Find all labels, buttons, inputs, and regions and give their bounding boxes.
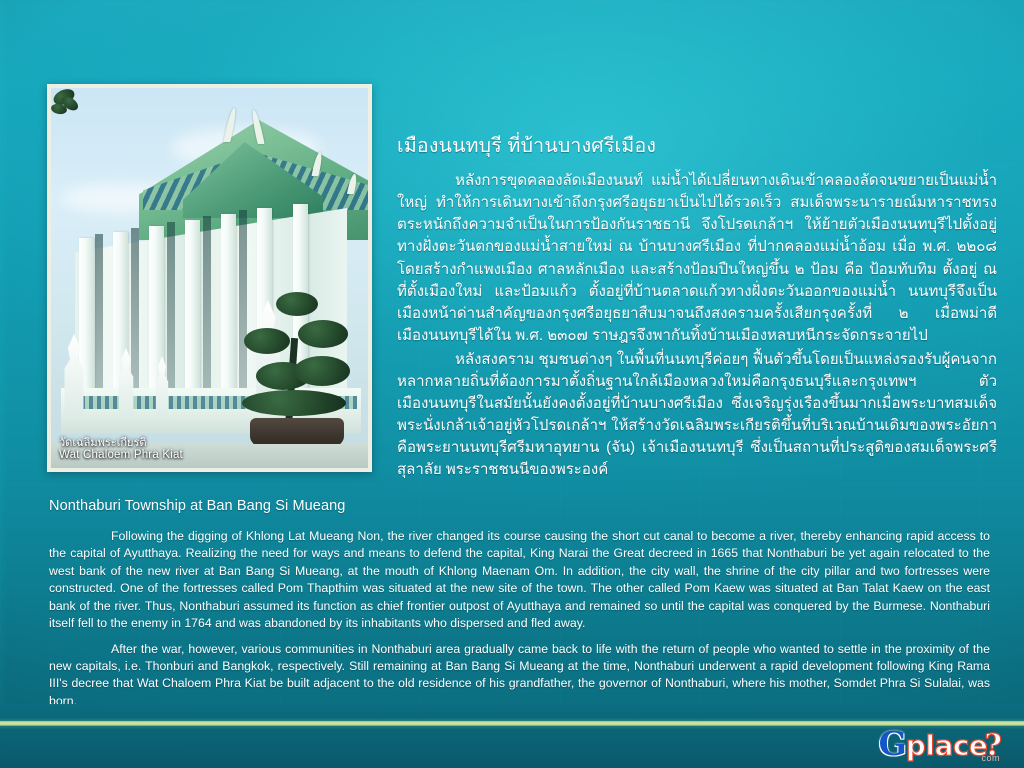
english-text-block: Nonthaburi Township at Ban Bang Si Muean… — [49, 497, 990, 710]
photo-hall-shadow — [95, 234, 103, 394]
photo-tree-foliage — [294, 356, 350, 386]
thai-text-column: เมืองนนทบุรี ที่บ้านบางศรีเมือง หลังการข… — [397, 133, 997, 481]
photo-tree-foliage — [276, 292, 318, 316]
photo-tree-foliage — [298, 320, 348, 348]
photo-caption: วัดเฉลิมพระเกียรติ Wat Chaloem Phra Kiat — [59, 437, 183, 462]
thai-paragraph-1: หลังการขุดคลองลัดเมืองนนท์ แม่น้ำได้เปลี… — [397, 170, 997, 346]
photo-caption-english: Wat Chaloem Phra Kiat — [59, 449, 183, 462]
green-divider-line — [0, 721, 1024, 726]
photo-tree — [236, 286, 354, 446]
logo-word-place: place — [906, 732, 988, 760]
photo-caption-thai: วัดเฉลิมพระเกียรติ — [59, 437, 183, 449]
temple-photo-image: วัดเฉลิมพระเกียรติ Wat Chaloem Phra Kiat — [51, 88, 368, 468]
logo-domain-suffix: com — [981, 753, 1000, 763]
photo-tree-foliage — [242, 390, 346, 416]
english-paragraph-2: After the war, however, various communit… — [49, 641, 990, 711]
thai-paragraph-2: หลังสงคราม ชุมชนต่างๆ ในพื้นที่นนทบุรีค่… — [397, 349, 997, 481]
photo-column — [221, 214, 236, 396]
footer-band — [0, 704, 1024, 768]
photo-hall-shadow — [167, 222, 175, 394]
logo-letter-g: G — [879, 727, 907, 760]
english-paragraph-1: Following the digging of Khlong Lat Muea… — [49, 528, 990, 633]
thai-heading: เมืองนนทบุรี ที่บ้านบางศรีเมือง — [397, 133, 997, 159]
info-panel: วัดเฉลิมพระเกียรติ Wat Chaloem Phra Kiat… — [0, 0, 1024, 768]
photo-hall-shadow — [131, 228, 139, 394]
gplace-watermark-logo[interactable]: G place ? com — [879, 727, 1002, 761]
temple-photo-frame: วัดเฉลิมพระเกียรติ Wat Chaloem Phra Kiat — [47, 84, 372, 472]
photo-column — [185, 220, 200, 396]
english-heading: Nonthaburi Township at Ban Bang Si Muean… — [49, 497, 990, 516]
photo-tree-planter — [250, 418, 344, 446]
photo-tree-foliage — [244, 328, 290, 354]
photo-hall-shadow — [203, 216, 211, 394]
